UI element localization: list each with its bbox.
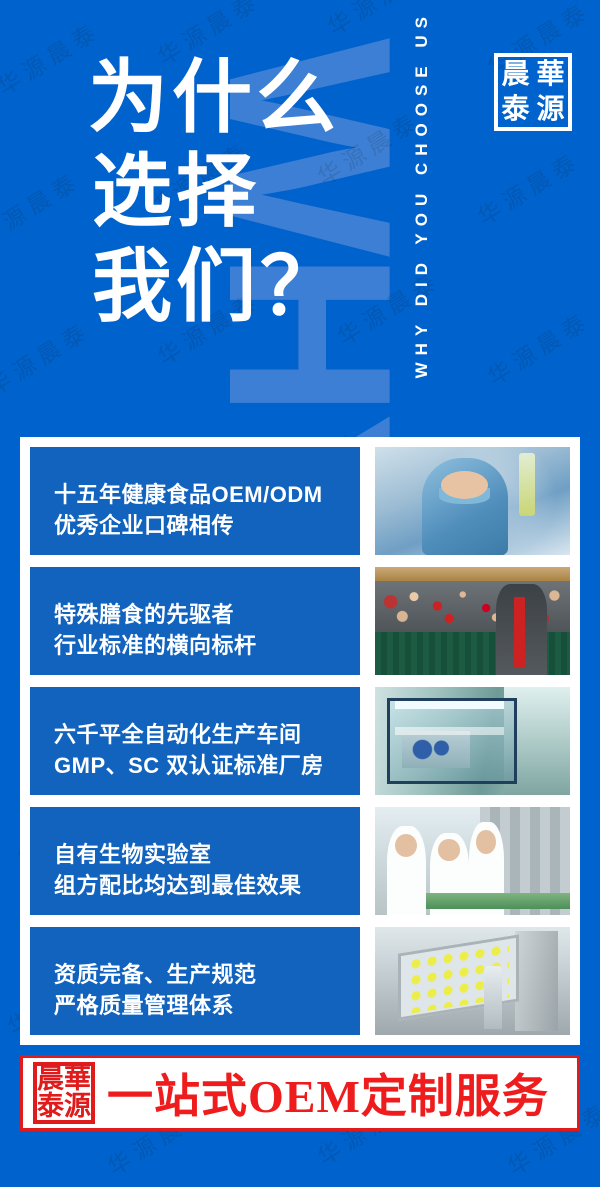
seal-stamp-icon: 晨 華 泰 源 bbox=[494, 53, 572, 131]
vertical-english-text: WHY DID YOU CHOOSE US bbox=[412, 10, 432, 378]
headline-line-2: 选择 bbox=[88, 146, 388, 240]
watermark-tile: 华源晨泰 bbox=[0, 312, 96, 402]
seal-char-2: 華 bbox=[64, 1066, 91, 1093]
advantage-line-1: 六千平全自动化生产车间 bbox=[54, 719, 360, 750]
seal-char-4: 源 bbox=[536, 96, 564, 124]
brand-seal-bottom: 晨 華 泰 源 bbox=[33, 1062, 105, 1124]
seal-char-3: 泰 bbox=[37, 1093, 64, 1120]
advantages-panel: 十五年健康食品OEM/ODM 优秀企业口碑相传 特殊膳食的先驱者 行业标准的横向… bbox=[20, 437, 580, 1045]
seal-char-3: 泰 bbox=[501, 96, 529, 124]
advantage-line-1: 资质完备、生产规范 bbox=[54, 959, 360, 990]
advantage-card-text: 十五年健康食品OEM/ODM 优秀企业口碑相传 bbox=[30, 447, 360, 555]
seal-stamp-icon: 晨 華 泰 源 bbox=[33, 1062, 95, 1124]
cta-slogan: 一站式OEM定制服务 bbox=[107, 1060, 549, 1126]
advantage-line-2: GMP、SC 双认证标准厂房 bbox=[54, 750, 360, 781]
tablet-packaging-machine-photo bbox=[375, 927, 570, 1035]
conference-audience-photo bbox=[375, 567, 570, 675]
vertical-english-tagline: WHY DID YOU CHOOSE US bbox=[404, 10, 440, 402]
advantage-line-1: 十五年健康食品OEM/ODM bbox=[54, 479, 360, 510]
watermark-tile: 华源晨泰 bbox=[480, 302, 596, 392]
headline-line-3: 我们？ bbox=[88, 241, 388, 335]
advantage-card-text: 特殊膳食的先驱者 行业标准的横向标杆 bbox=[30, 567, 360, 675]
advantage-line-2: 严格质量管理体系 bbox=[54, 990, 360, 1021]
advantage-line-1: 自有生物实验室 bbox=[54, 839, 360, 870]
seal-char-1: 晨 bbox=[501, 61, 529, 89]
advantage-card-text: 六千平全自动化生产车间 GMP、SC 双认证标准厂房 bbox=[30, 687, 360, 795]
seal-char-2: 華 bbox=[536, 61, 564, 89]
watermark-tile: 华源晨泰 bbox=[0, 162, 86, 252]
advantage-card: 自有生物实验室 组方配比均达到最佳效果 bbox=[30, 807, 570, 915]
brand-seal-top: 晨 華 泰 源 bbox=[494, 53, 572, 131]
lab-staff-production-line-photo bbox=[375, 807, 570, 915]
seal-char-1: 晨 bbox=[37, 1066, 64, 1093]
advantage-card: 十五年健康食品OEM/ODM 优秀企业口碑相传 bbox=[30, 447, 570, 555]
advantage-line-2: 组方配比均达到最佳效果 bbox=[54, 870, 360, 901]
headline-line-1: 为什么 bbox=[88, 52, 388, 146]
advantage-card-text: 自有生物实验室 组方配比均达到最佳效果 bbox=[30, 807, 360, 915]
cleanroom-corridor-photo bbox=[375, 687, 570, 795]
advantage-card: 资质完备、生产规范 严格质量管理体系 bbox=[30, 927, 570, 1035]
advantage-card: 六千平全自动化生产车间 GMP、SC 双认证标准厂房 bbox=[30, 687, 570, 795]
advantage-line-1: 特殊膳食的先驱者 bbox=[54, 599, 360, 630]
advantage-card: 特殊膳食的先驱者 行业标准的横向标杆 bbox=[30, 567, 570, 675]
advantage-card-text: 资质完备、生产规范 严格质量管理体系 bbox=[30, 927, 360, 1035]
lab-technician-photo bbox=[375, 447, 570, 555]
cta-banner: 晨 華 泰 源 一站式OEM定制服务 bbox=[20, 1055, 580, 1131]
watermark-tile: 华源晨泰 bbox=[470, 142, 586, 232]
advantage-line-2: 行业标准的横向标杆 bbox=[54, 630, 360, 661]
advantage-line-2: 优秀企业口碑相传 bbox=[54, 510, 360, 541]
seal-char-4: 源 bbox=[64, 1093, 91, 1120]
page-title: 为什么 选择 我们？ bbox=[88, 52, 388, 335]
